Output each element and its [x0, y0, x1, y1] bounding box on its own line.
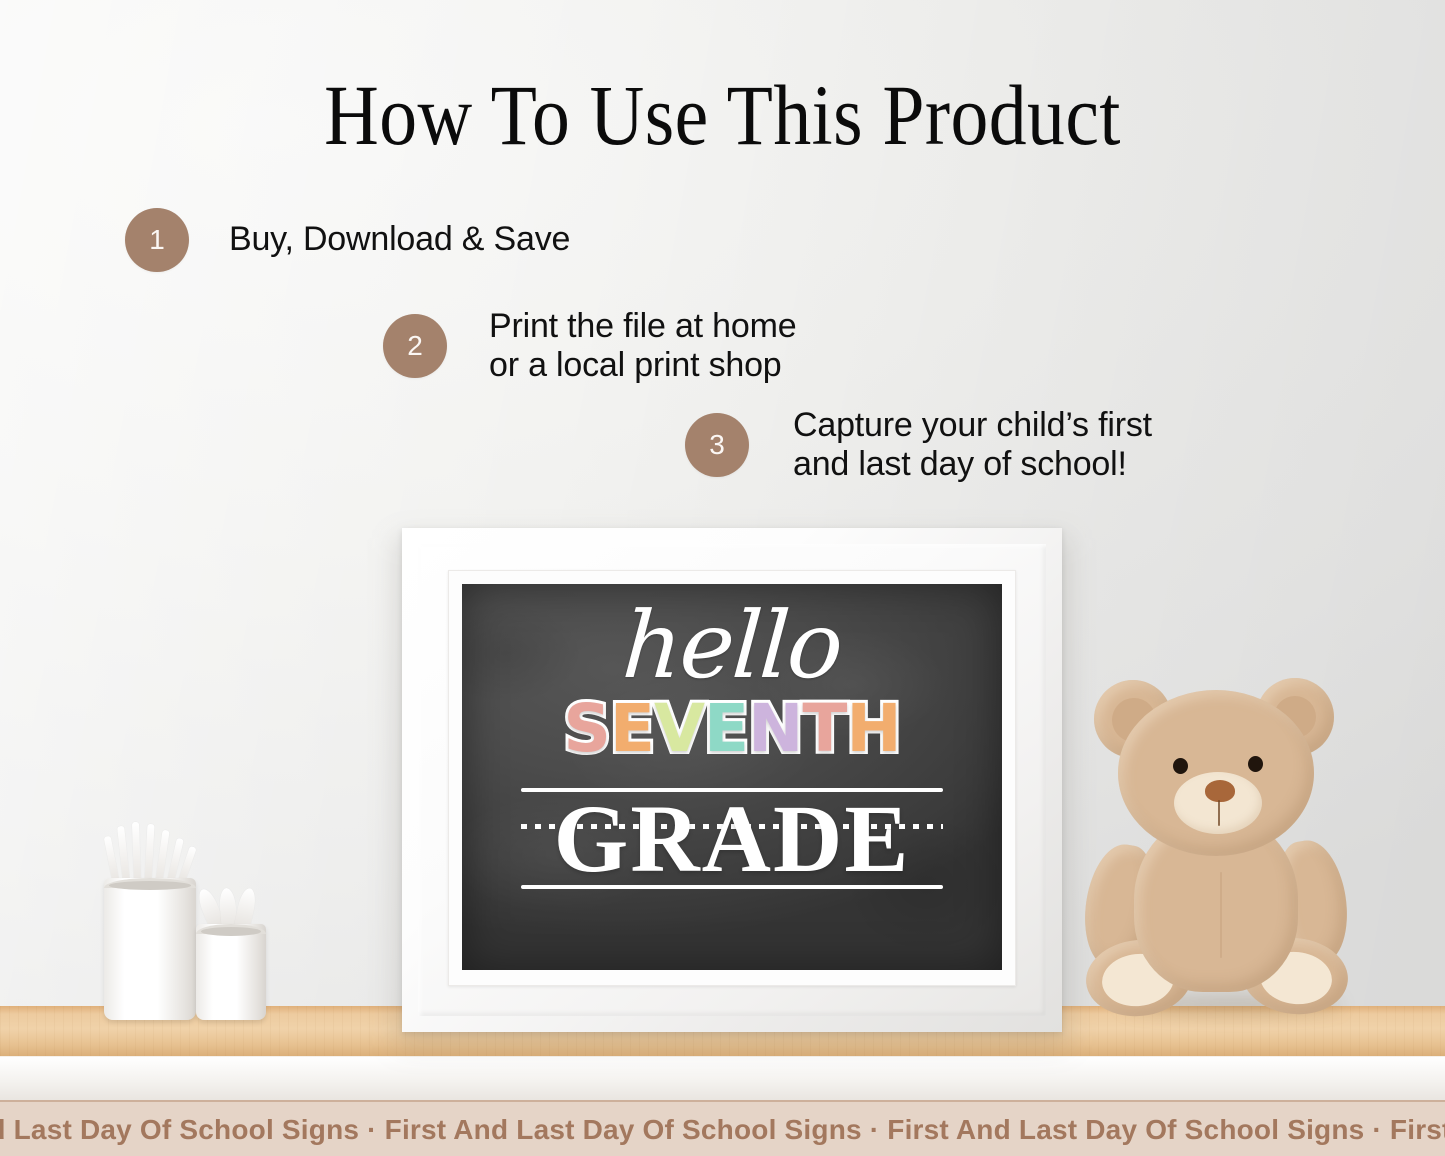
step-number-badge-3: 3	[685, 413, 749, 477]
desk-organizer-cups	[96, 838, 286, 1020]
chalkboard-artwork: hello SEVENTH GRADE	[462, 584, 1002, 970]
grade-name-letter-4: E	[704, 696, 748, 762]
grade-name-letter-7: H	[846, 696, 900, 762]
footer-banner: First And Last Day Of School Signs · Fir…	[0, 1100, 1445, 1156]
shelf-front-edge	[0, 1056, 1445, 1101]
step-item-2: 2 Print the file at home or a local prin…	[383, 307, 796, 386]
grade-name-letter-1: S	[563, 696, 610, 762]
bear-body-seam	[1220, 872, 1222, 958]
poster-canvas: How To Use This Product 1 Buy, Download …	[0, 0, 1445, 1156]
large-pencil-cup	[104, 878, 196, 1020]
step-label-1: Buy, Download & Save	[229, 220, 570, 259]
sign-content: hello SEVENTH GRADE	[462, 584, 1002, 970]
footer-banner-text: First And Last Day Of School Signs · Fir…	[0, 1114, 1445, 1146]
step-number-badge-2: 2	[383, 314, 447, 378]
step-label-3: Capture your child’s first and last day …	[793, 406, 1152, 485]
pencil-sticks	[106, 820, 200, 882]
grade-word: GRADE	[521, 788, 942, 889]
bear-eye-right	[1248, 756, 1263, 772]
grade-name-letter-5: N	[748, 696, 802, 762]
grade-name-letter-2: E	[610, 696, 654, 762]
grade-name-word: SEVENTH	[563, 696, 900, 762]
bear-nose	[1205, 780, 1235, 802]
step-item-1: 1 Buy, Download & Save	[125, 208, 570, 272]
framed-sign: hello SEVENTH GRADE	[402, 528, 1062, 1032]
teddy-bear	[1070, 672, 1380, 1012]
grade-guideline-block: GRADE	[521, 788, 942, 889]
step-label-2: Print the file at home or a local print …	[489, 307, 796, 386]
bear-eye-left	[1173, 758, 1188, 774]
small-pencil-cup	[196, 924, 266, 1020]
grade-name-letter-6: T	[802, 696, 846, 762]
hello-script-word: hello	[620, 600, 844, 692]
step-number-badge-1: 1	[125, 208, 189, 272]
cup-inner-shadow	[109, 881, 191, 890]
step-item-3: 3 Capture your child’s first and last da…	[685, 406, 1152, 485]
grade-name-letter-3: V	[654, 696, 704, 762]
paper-fan-items	[200, 884, 266, 928]
cup-inner-shadow	[201, 927, 261, 936]
bear-mouth-seam	[1218, 800, 1220, 826]
page-title: How To Use This Product	[87, 72, 1359, 158]
